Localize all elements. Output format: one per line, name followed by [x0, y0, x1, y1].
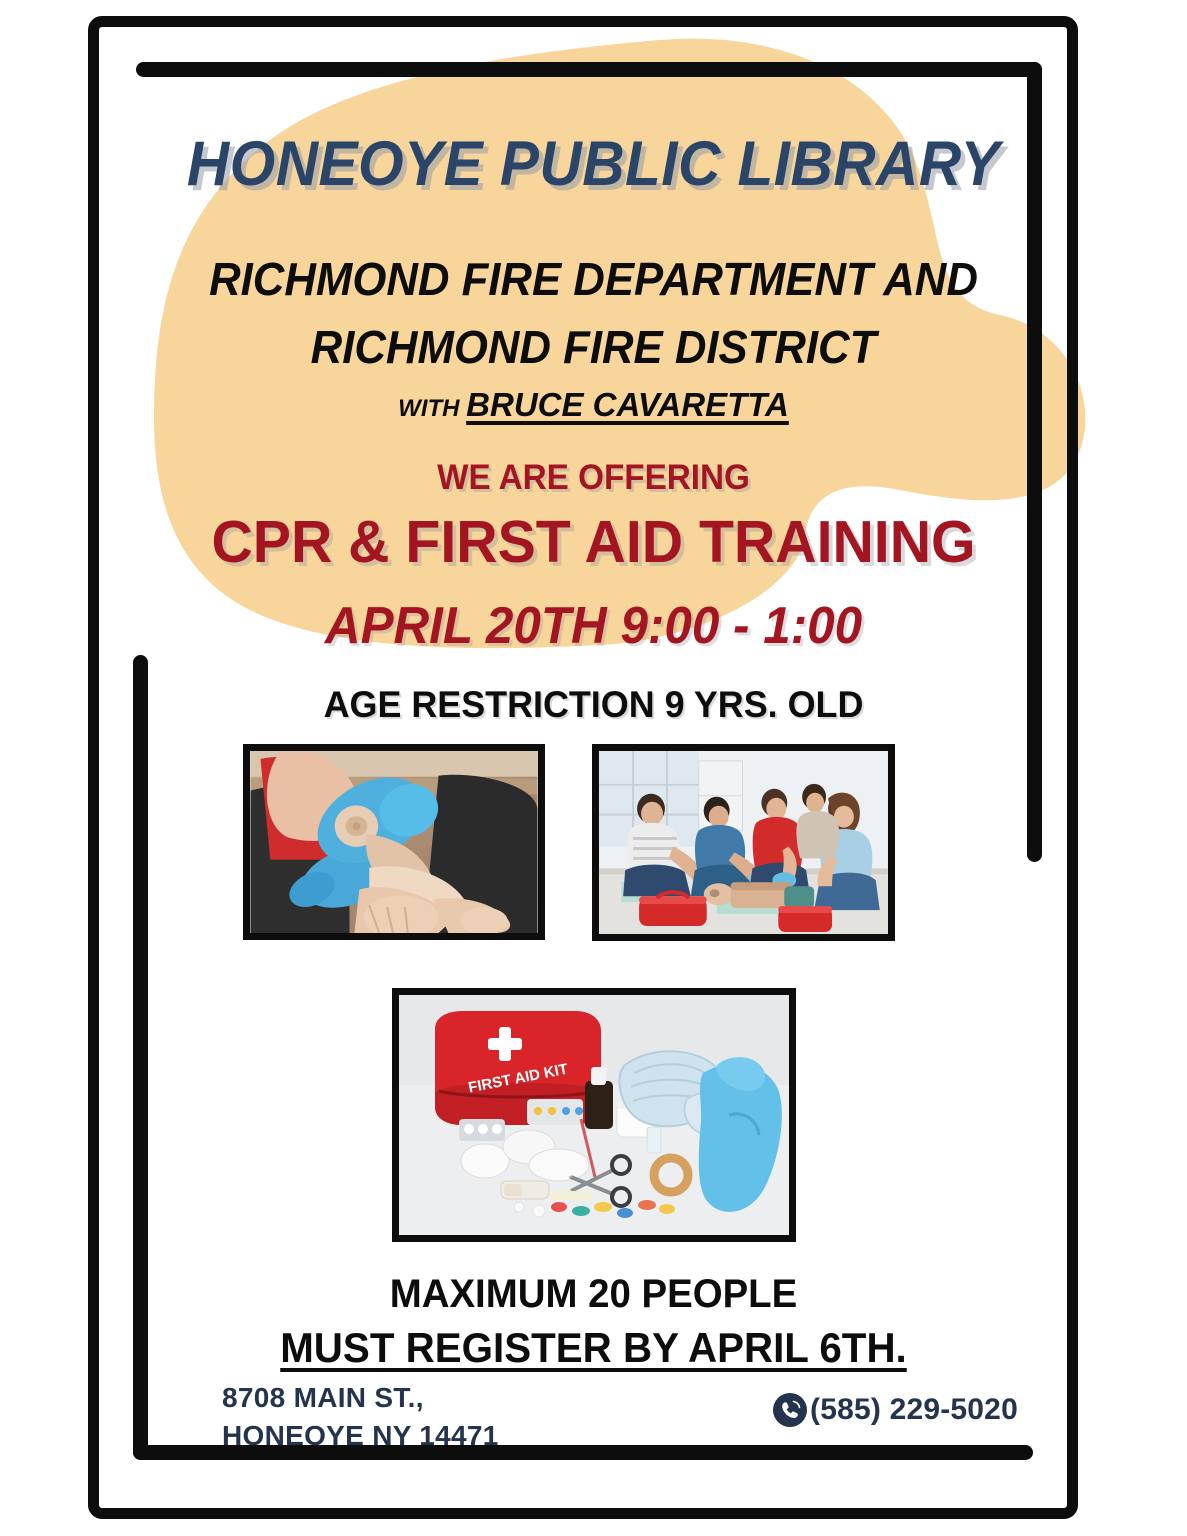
poster-content: HONEOYE PUBLIC LIBRARY RICHMOND FIRE DEP…	[0, 0, 1187, 1536]
phone-block[interactable]: (585) 229-5020	[772, 1392, 1018, 1428]
phone-number: (585) 229-5020	[810, 1393, 1018, 1427]
photo-first-aid-kit: FIRST AID KIT	[392, 988, 796, 1242]
register-deadline-text: MUST REGISTER BY APRIL 6TH.	[24, 1324, 1164, 1372]
event-title: CPR & FIRST AID TRAINING	[18, 508, 1169, 576]
presenter-line-1: RICHMOND FIRE DEPARTMENT AND	[30, 252, 1158, 306]
register-deadline-underlined: MUST REGISTER BY APRIL 6TH.	[280, 1324, 907, 1371]
phone-icon	[772, 1392, 808, 1428]
poster-canvas: HONEOYE PUBLIC LIBRARY RICHMOND FIRE DEP…	[0, 0, 1187, 1536]
instructor-name: BRUCE CAVARETTA	[466, 386, 789, 423]
address-block: 8708 MAIN ST., HONEOYE NY 14471	[222, 1379, 499, 1455]
address-line-1: 8708 MAIN ST.,	[222, 1379, 499, 1417]
offering-label: WE ARE OFFERING	[30, 458, 1158, 498]
with-label: WITH	[398, 395, 466, 422]
photo-bandaging-hand	[243, 744, 545, 940]
address-line-2: HONEOYE NY 14471	[222, 1417, 499, 1455]
max-people-text: MAXIMUM 20 PEOPLE	[24, 1272, 1164, 1317]
instructor-line: WITH BRUCE CAVARETTA	[0, 386, 1187, 424]
photo-cpr-class	[592, 744, 895, 941]
event-date-time: APRIL 20TH 9:00 - 1:00	[30, 596, 1158, 656]
presenter-line-2: RICHMOND FIRE DISTRICT	[30, 320, 1158, 374]
library-title: HONEOYE PUBLIC LIBRARY	[42, 128, 1146, 200]
age-restriction-text: AGE RESTRICTION 9 YRS. OLD	[18, 684, 1169, 726]
